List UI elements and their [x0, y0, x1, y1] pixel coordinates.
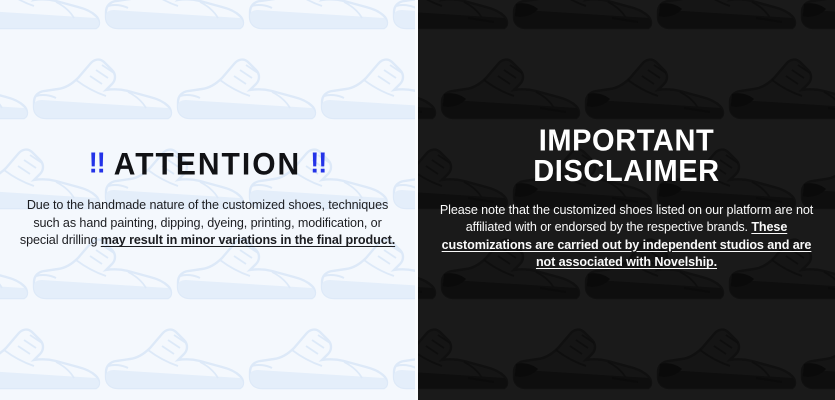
attention-heading-text: ATTENTION [114, 149, 301, 181]
double-exclamation-left-icon: !! [89, 149, 105, 178]
disclaimer-body: Please note that the customized shoes li… [432, 202, 821, 272]
disclaimer-banner: !!ATTENTION!! Due to the handmade nature… [0, 0, 835, 400]
double-exclamation-right-icon: !! [310, 149, 326, 178]
attention-content: !!ATTENTION!! Due to the handmade nature… [0, 150, 415, 250]
attention-body: Due to the handmade nature of the custom… [14, 197, 401, 250]
disclaimer-content: IMPORTANT DISCLAIMER Please note that th… [418, 128, 835, 271]
attention-heading: !!ATTENTION!! [14, 149, 401, 181]
disclaimer-heading-line-1: IMPORTANT [432, 127, 821, 157]
attention-panel: !!ATTENTION!! Due to the handmade nature… [0, 0, 415, 400]
disclaimer-heading: IMPORTANT DISCLAIMER [432, 127, 821, 187]
disclaimer-panel: IMPORTANT DISCLAIMER Please note that th… [418, 0, 835, 400]
disclaimer-heading-line-2: DISCLAIMER [432, 157, 821, 187]
attention-body-emphasis: may result in minor variations in the fi… [101, 233, 395, 247]
